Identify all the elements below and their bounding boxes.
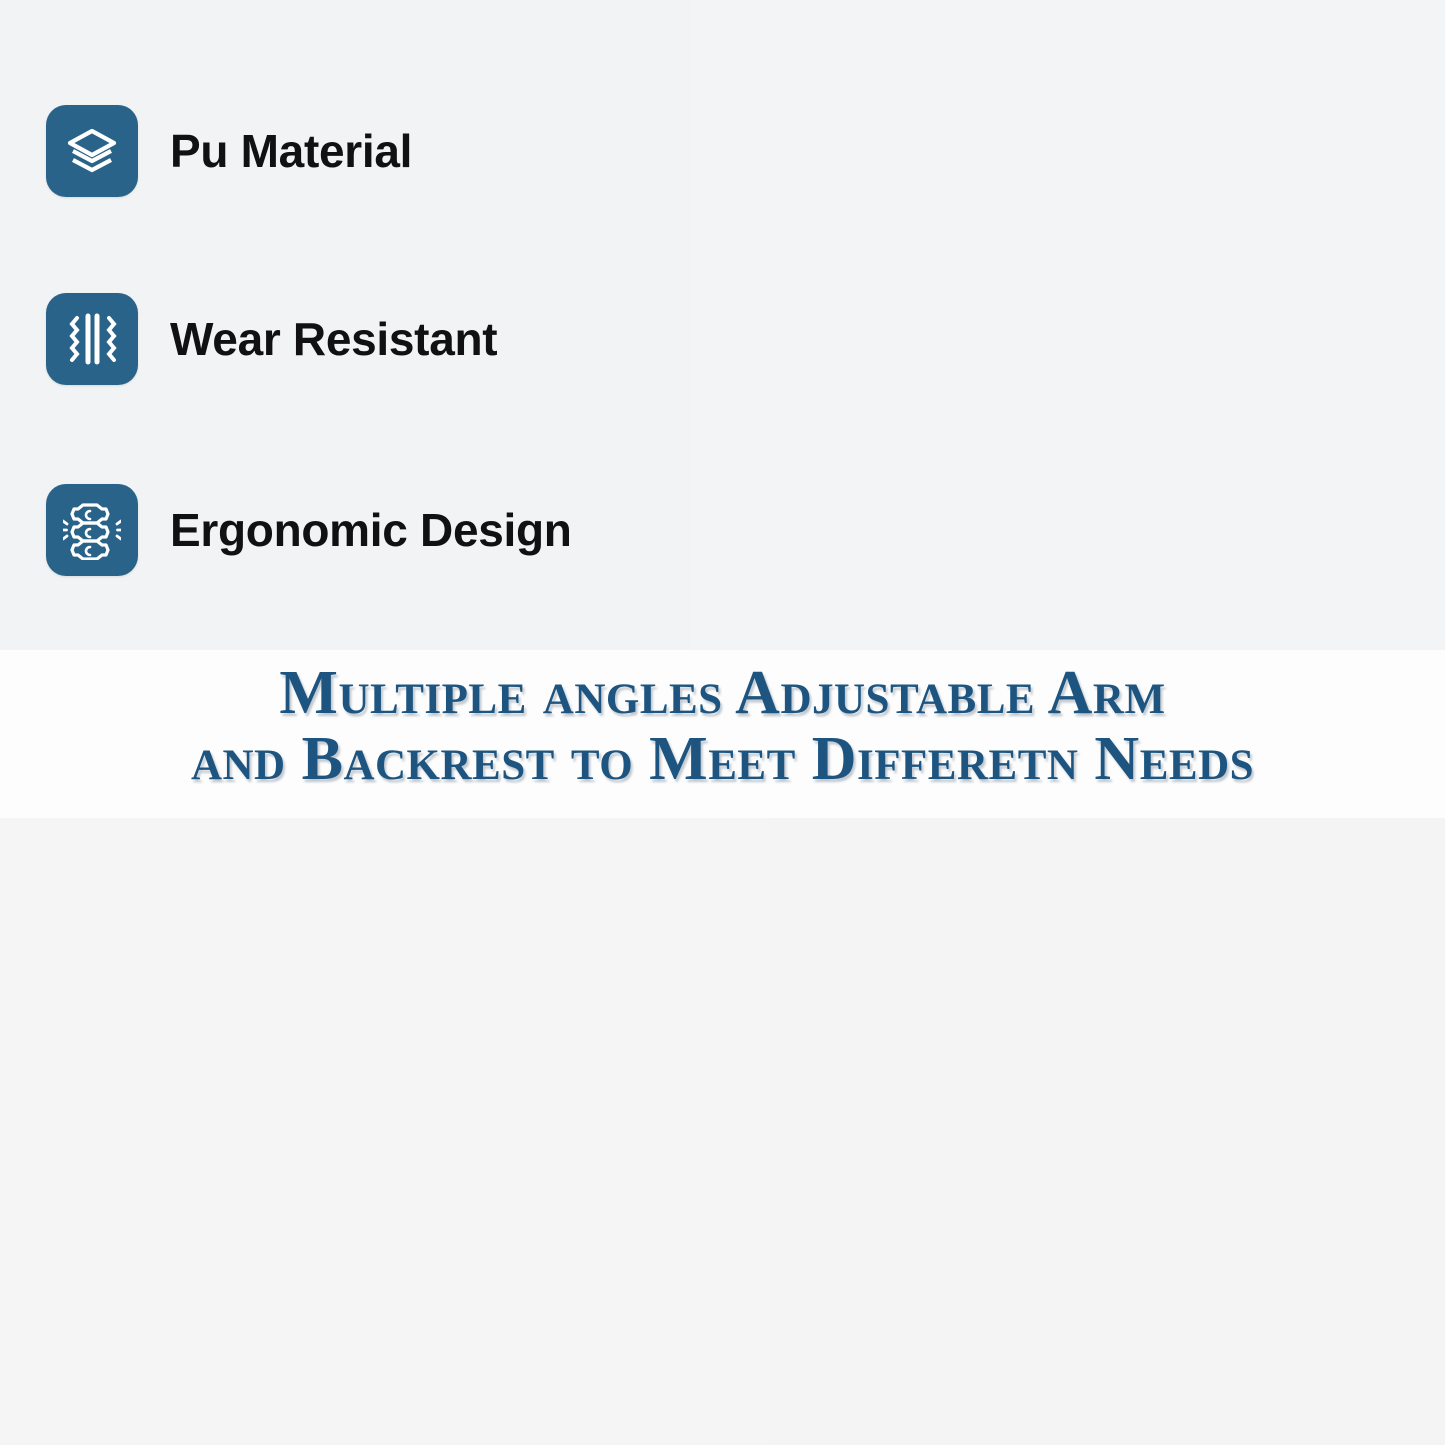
- bottom-panel: Strong Frame Breathablity: [0, 818, 1445, 1445]
- photo-background: [690, 0, 1445, 650]
- headline-line-2: and Backrest to Meet Differetn Needs: [0, 726, 1445, 792]
- feature-label: Pu Material: [170, 124, 412, 178]
- feature-pu-material: Pu Material: [46, 105, 412, 197]
- photo-sofa-reclined: [690, 0, 1445, 650]
- photo-tufted-backrest-detail: [0, 818, 770, 1445]
- top-panel: Pu Material Wear Resistant: [0, 0, 1445, 650]
- feature-label: Ergonomic Design: [170, 503, 572, 557]
- layers-stack-icon: [46, 105, 138, 197]
- feature-wear-resistant: Wear Resistant: [46, 293, 497, 385]
- photo-background: [0, 818, 770, 1445]
- headline-band: Multiple angles Adjustable Arm and Backr…: [0, 650, 1445, 818]
- spine-icon: [46, 484, 138, 576]
- headline: Multiple angles Adjustable Arm and Backr…: [0, 660, 1445, 793]
- headline-line-1: Multiple angles Adjustable Arm: [279, 659, 1165, 727]
- abrasion-tread-icon: [46, 293, 138, 385]
- feature-label: Wear Resistant: [170, 312, 497, 366]
- product-infographic: Pu Material Wear Resistant: [0, 0, 1445, 1445]
- feature-ergonomic-design: Ergonomic Design: [46, 484, 572, 576]
